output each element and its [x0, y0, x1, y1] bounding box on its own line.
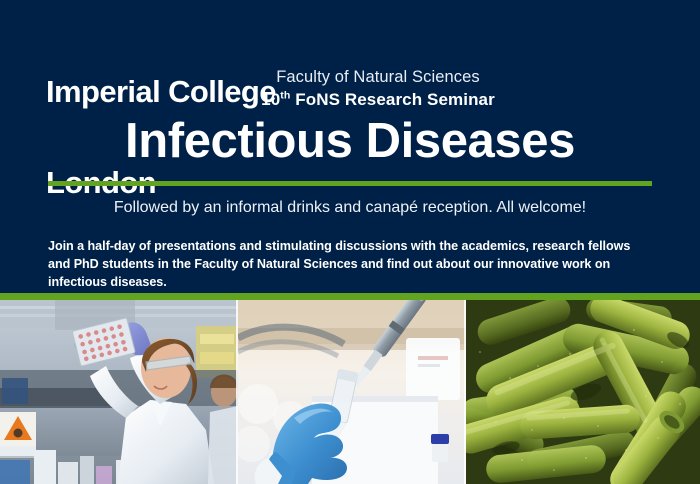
seminar-name: FoNS Research Seminar: [295, 90, 495, 109]
reception-subtitle: Followed by an informal drinks and canap…: [0, 199, 700, 217]
faculty-label: Faculty of Natural Sciences: [0, 68, 700, 87]
seminar-number: 10: [261, 90, 280, 109]
green-divider-rule: [48, 181, 652, 186]
photo-strip: [0, 300, 700, 484]
page-title: Infectious Diseases: [0, 116, 700, 167]
seminar-ordinal-suffix: th: [280, 89, 290, 101]
photo-gloved-hand-pipetting: [238, 300, 466, 484]
photo-bacteria-electron-micrograph: [466, 300, 700, 484]
green-accent-strip: [0, 293, 700, 300]
poster-canvas: Imperial College London Faculty of Natur…: [0, 0, 700, 484]
body-paragraph: Join a half-day of presentations and sti…: [48, 238, 648, 292]
photo-scientist-holding-microplate: [0, 300, 238, 484]
seminar-label: 10th FoNS Research Seminar: [0, 90, 700, 110]
